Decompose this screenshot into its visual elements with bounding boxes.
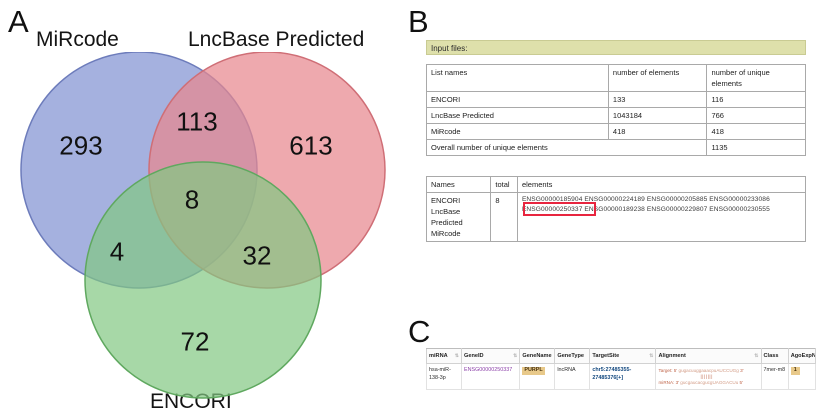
targetsite-value: chr5:27485355-27485376[+] — [592, 367, 631, 381]
cell-targetsite: chr5:27485355-27485376[+] — [590, 364, 656, 390]
venn-count-mircode-only: 293 — [59, 131, 102, 162]
cell-num-unique: 116 — [707, 92, 806, 108]
alignment-mirna-label: miRNA: — [658, 380, 674, 385]
cell-agoexpnum: 1 — [788, 364, 815, 390]
cell-mirna: hsa-miR-138-3p — [427, 364, 462, 390]
genename-badge: PURPL — [522, 367, 544, 375]
table-row-overall: Overall number of unique elements 1135 — [427, 140, 806, 156]
table-header-row: Names total elements — [427, 177, 806, 193]
panel-label-b: B — [408, 6, 429, 37]
col-header-genetype[interactable]: GeneType — [555, 349, 590, 364]
cell-genename: PURPL — [520, 364, 555, 390]
elements-line-2: ENSG00000250337 ENSG00000189238 ENSG0000… — [522, 205, 801, 215]
agoexpnum-badge: 1 — [791, 367, 800, 375]
table-row: ENCORI 133 116 — [427, 92, 806, 108]
venn-count-mircode-encori: 4 — [110, 237, 124, 268]
venn-count-encori-only: 72 — [181, 327, 210, 358]
table-row: MiRcode 418 418 — [427, 124, 806, 140]
panel-label-c: C — [408, 316, 430, 347]
col-header-class[interactable]: Class — [761, 349, 788, 364]
alignment-target-3prime: 3' — [740, 368, 743, 373]
sort-icon[interactable]: ⇅ — [649, 352, 653, 360]
cell-num-elements: 1043184 — [608, 108, 707, 124]
sort-icon[interactable]: ⇅ — [455, 352, 459, 360]
col-header-list-names: List names — [427, 65, 609, 92]
venn-diagram-panel: MiRcode LncBase Predicted ENCORI 293 613… — [0, 0, 406, 420]
venn-set-label-lncbase: LncBase Predicted — [188, 28, 364, 52]
cell-overall-label: Overall number of unique elements — [427, 140, 707, 156]
venn-set-label-mircode: MiRcode — [36, 28, 119, 52]
sort-icon[interactable]: ⇅ — [513, 352, 517, 360]
cell-geneid: ENSG00000250337 — [462, 364, 520, 390]
elements-table: Names total elements ENCORI LncBase Pred… — [426, 176, 806, 242]
cell-intersection-total: 8 — [491, 193, 518, 242]
cell-alignment: Target: 5' gugacuuggaaacpuAUCCUGg 3' |||… — [656, 364, 761, 390]
col-header-geneid[interactable]: GeneID⇅ — [462, 349, 520, 364]
cell-genetype: lncRNA — [555, 364, 590, 390]
alignment-target-sequence: gugacuuggaaacpuAUCCUGg — [679, 368, 739, 373]
col-header-mirna[interactable]: miRNA⇅ — [427, 349, 462, 364]
venn-count-lncbase-only: 613 — [289, 131, 332, 162]
cell-num-unique: 418 — [707, 124, 806, 140]
alignment-mirna-sequence: gucgaucacgucgUAGGACUu — [680, 380, 738, 385]
col-header-names: Names — [427, 177, 491, 193]
col-header-genename[interactable]: GeneName — [520, 349, 555, 364]
col-header-targetsite[interactable]: TargetSite⇅ — [590, 349, 656, 364]
input-files-table: List names number of elements number of … — [426, 64, 806, 156]
cell-list-name: ENCORI — [427, 92, 609, 108]
table-header-row: List names number of elements number of … — [427, 65, 806, 92]
geneid-link[interactable]: ENSG00000250337 — [464, 367, 512, 373]
alignment-mirna-row: miRNA: 3' gucgaucacgucgUAGGACUu 5' — [658, 379, 758, 386]
venn-count-all-three: 8 — [185, 185, 199, 216]
alignment-mirna-5prime: 5' — [740, 380, 743, 385]
cell-intersection-names: ENCORI LncBase Predicted MiRcode — [427, 193, 491, 242]
col-header-number-of-elements: number of elements — [608, 65, 707, 92]
mirna-target-panel: miRNA⇅ GeneID⇅ GeneName GeneType TargetS… — [426, 348, 816, 390]
cell-num-unique: 766 — [707, 108, 806, 124]
input-files-title: Input files: — [426, 40, 806, 55]
input-files-panel: Input files: List names number of elemen… — [426, 40, 806, 242]
elements-line-1: ENSG00000185904 ENSG00000224189 ENSG0000… — [522, 195, 801, 205]
col-header-total: total — [491, 177, 518, 193]
col-header-agoexpnum[interactable]: AgoExpNum — [788, 349, 815, 364]
col-header-elements: elements — [517, 177, 805, 193]
cell-class: 7mer-m8 — [761, 364, 788, 390]
alignment-mirna-3prime: 3' — [676, 380, 679, 385]
venn-count-lncbase-encori: 32 — [243, 241, 272, 272]
table-header-row: miRNA⇅ GeneID⇅ GeneName GeneType TargetS… — [427, 349, 816, 364]
alignment-target-row: Target: 5' gugacuuggaaacpuAUCCUGg 3' — [658, 367, 758, 374]
cell-list-name: LncBase Predicted — [427, 108, 609, 124]
alignment-target-label: Target: — [658, 368, 672, 373]
alignment-target-5prime: 5' — [674, 368, 677, 373]
cell-overall-value: 1135 — [707, 140, 806, 156]
cell-list-name: MiRcode — [427, 124, 609, 140]
col-header-alignment[interactable]: Alignment⇅ — [656, 349, 761, 364]
cell-num-elements: 418 — [608, 124, 707, 140]
sort-icon[interactable]: ⇅ — [754, 352, 758, 360]
table-row: ENCORI LncBase Predicted MiRcode 8 ENSG0… — [427, 193, 806, 242]
venn-circle-encori — [85, 162, 321, 398]
cell-intersection-elements: ENSG00000185904 ENSG00000224189 ENSG0000… — [517, 193, 805, 242]
venn-count-mircode-lncbase: 113 — [176, 107, 217, 138]
table-row: LncBase Predicted 1043184 766 — [427, 108, 806, 124]
col-header-number-unique-elements: number of unique elements — [707, 65, 806, 92]
mirna-target-table: miRNA⇅ GeneID⇅ GeneName GeneType TargetS… — [426, 348, 816, 390]
table-row: hsa-miR-138-3p ENSG00000250337 PURPL lnc… — [427, 364, 816, 390]
cell-num-elements: 133 — [608, 92, 707, 108]
